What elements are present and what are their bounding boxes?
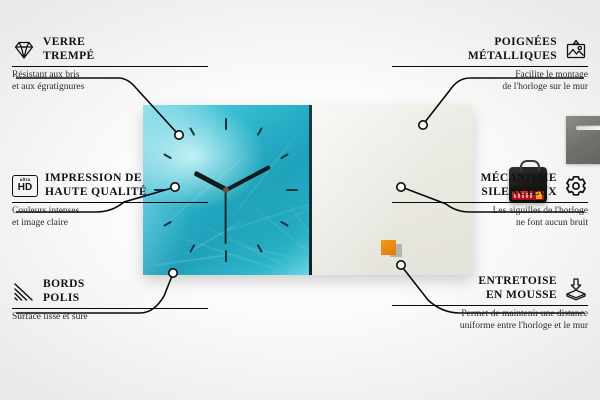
feature-divider: [12, 66, 208, 67]
feature-header: MÉCANISME SILENCIEUX: [392, 172, 588, 199]
feature-poignees-metalliques: POIGNÉES MÉTALLIQUES Facilite le montage…: [392, 36, 588, 93]
leader-dot-poignees: [419, 121, 427, 129]
hanging-picture-frame-icon: [564, 38, 588, 62]
feature-title: IMPRESSION DE HAUTE QUALITÉ: [45, 172, 147, 199]
feature-mecanisme-silencieux: MÉCANISME SILENCIEUX Les aiguilles de l'…: [392, 172, 588, 229]
feature-subtitle: Facilite le montage de l'horloge sur le …: [392, 70, 588, 93]
feature-title: MÉCANISME SILENCIEUX: [481, 172, 557, 199]
feature-verre-trempe: VERRE TREMPÉ Résistant aux bris et aux é…: [12, 36, 208, 93]
leader-dot-bords-polis: [169, 269, 177, 277]
feature-title: VERRE TREMPÉ: [43, 36, 95, 63]
feature-divider: [392, 202, 588, 203]
gear-icon: [564, 174, 588, 198]
feature-entretoise-en-mousse: ENTRETOISE EN MOUSSE Permet de maintenir…: [392, 275, 588, 332]
feature-title: BORDS POLIS: [43, 278, 85, 305]
feature-header: BORDS POLIS: [12, 278, 208, 305]
infographic-canvas: VERRE TREMPÉ Résistant aux bris et aux é…: [0, 0, 600, 400]
feature-title: ENTRETOISE EN MOUSSE: [478, 275, 557, 302]
feature-impression-haute-qualite: ultra HD IMPRESSION DE HAUTE QUALITÉ Cou…: [12, 172, 208, 229]
feature-divider: [12, 202, 208, 203]
polished-edge-lines-icon: [12, 280, 36, 304]
feature-header: VERRE TREMPÉ: [12, 36, 208, 63]
feature-subtitle: Surface lisse et sûre: [12, 312, 208, 324]
feature-subtitle: Couleurs intenses et image claire: [12, 206, 208, 229]
arrow-onto-layers-icon: [564, 277, 588, 301]
feature-header: POIGNÉES MÉTALLIQUES: [392, 36, 588, 63]
feature-bords-polis: BORDS POLIS Surface lisse et sûre: [12, 278, 208, 324]
feature-subtitle: Résistant aux bris et aux égratignures: [12, 70, 208, 93]
diamond-icon: [12, 38, 36, 62]
feature-subtitle: Permet de maintenir une distance uniform…: [392, 309, 588, 332]
feature-divider: [392, 66, 588, 67]
feature-header: ultra HD IMPRESSION DE HAUTE QUALITÉ: [12, 172, 208, 199]
ultra-hd-badge-icon: ultra HD: [12, 175, 38, 197]
leader-dot-entretoise: [397, 261, 405, 269]
feature-divider: [392, 305, 588, 306]
feature-header: ENTRETOISE EN MOUSSE: [392, 275, 588, 302]
leader-dot-verre-trempe: [175, 131, 183, 139]
feature-divider: [12, 308, 208, 309]
feature-title: POIGNÉES MÉTALLIQUES: [468, 36, 557, 63]
feature-subtitle: Les aiguilles de l'horloge ne font aucun…: [392, 206, 588, 229]
